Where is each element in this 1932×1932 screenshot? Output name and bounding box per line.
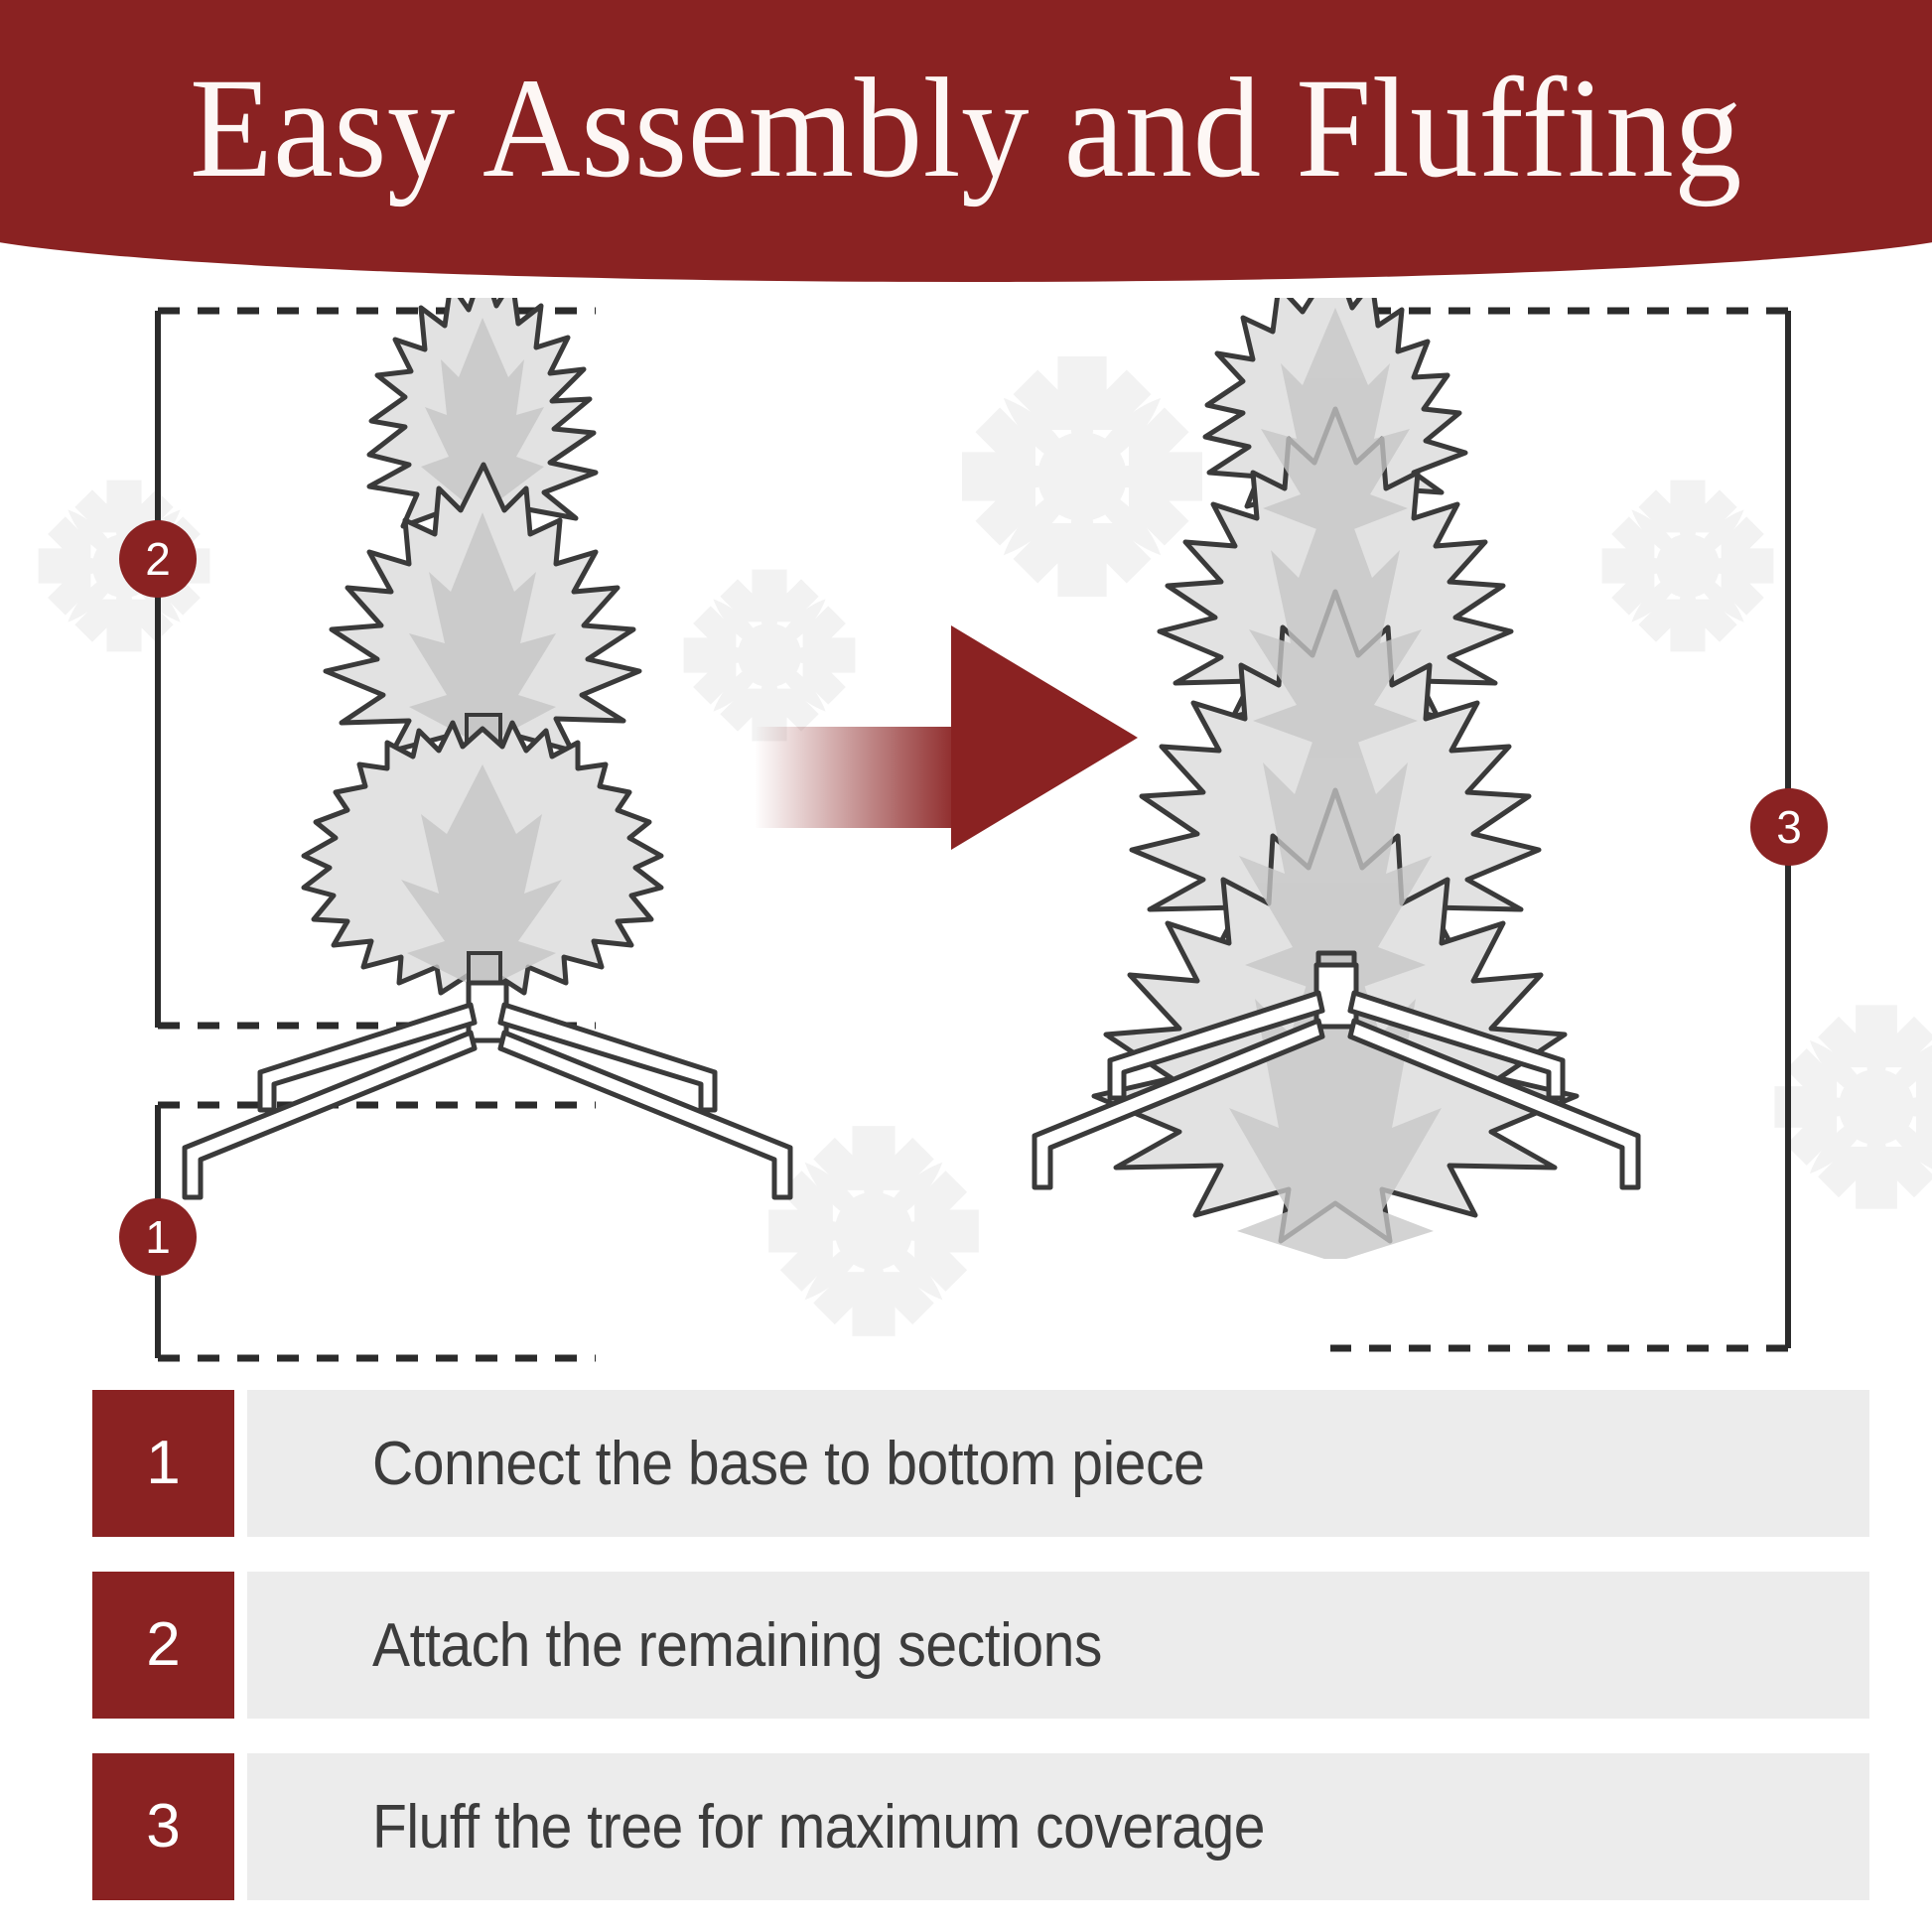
arrow-tail	[755, 727, 965, 828]
bracket-badge-1: 1	[119, 1198, 197, 1276]
step-text-1-label: Connect the base to bottom piece	[372, 1429, 1204, 1499]
step-row-1[interactable]: 1 Connect the base to bottom piece	[92, 1390, 1869, 1537]
step-number-3: 3	[92, 1753, 234, 1900]
step-text-2-label: Attach the remaining sections	[372, 1610, 1102, 1681]
step-row-2[interactable]: 2 Attach the remaining sections	[92, 1572, 1869, 1719]
step-number-2-label: 2	[146, 1614, 180, 1676]
step-text-3: Fluff the tree for maximum coverage	[247, 1753, 1869, 1900]
arrow-head	[951, 625, 1138, 850]
bracket-badge-3-label: 3	[1776, 804, 1802, 850]
steps-list: 1 Connect the base to bottom piece 2 Att…	[0, 1390, 1932, 1932]
bracket-badge-2-label: 2	[145, 536, 171, 582]
step-number-1-label: 1	[146, 1433, 180, 1494]
step-number-3-label: 3	[146, 1796, 180, 1858]
step-text-1: Connect the base to bottom piece	[247, 1390, 1869, 1537]
step-row-3[interactable]: 3 Fluff the tree for maximum coverage	[92, 1753, 1869, 1900]
page-title: Easy Assembly and Fluffing	[49, 0, 1884, 256]
step-text-3-label: Fluff the tree for maximum coverage	[372, 1792, 1265, 1863]
illustration-area: 2 1 3	[0, 298, 1932, 1380]
header-banner: Easy Assembly and Fluffing	[0, 0, 1932, 298]
step-number-2: 2	[92, 1572, 234, 1719]
step-text-2: Attach the remaining sections	[247, 1572, 1869, 1719]
bracket-badge-2: 2	[119, 520, 197, 598]
step-number-1: 1	[92, 1390, 234, 1537]
bracket-badge-3: 3	[1750, 788, 1828, 866]
transformation-arrow	[0, 298, 1932, 1380]
bracket-badge-1-label: 1	[145, 1214, 171, 1260]
